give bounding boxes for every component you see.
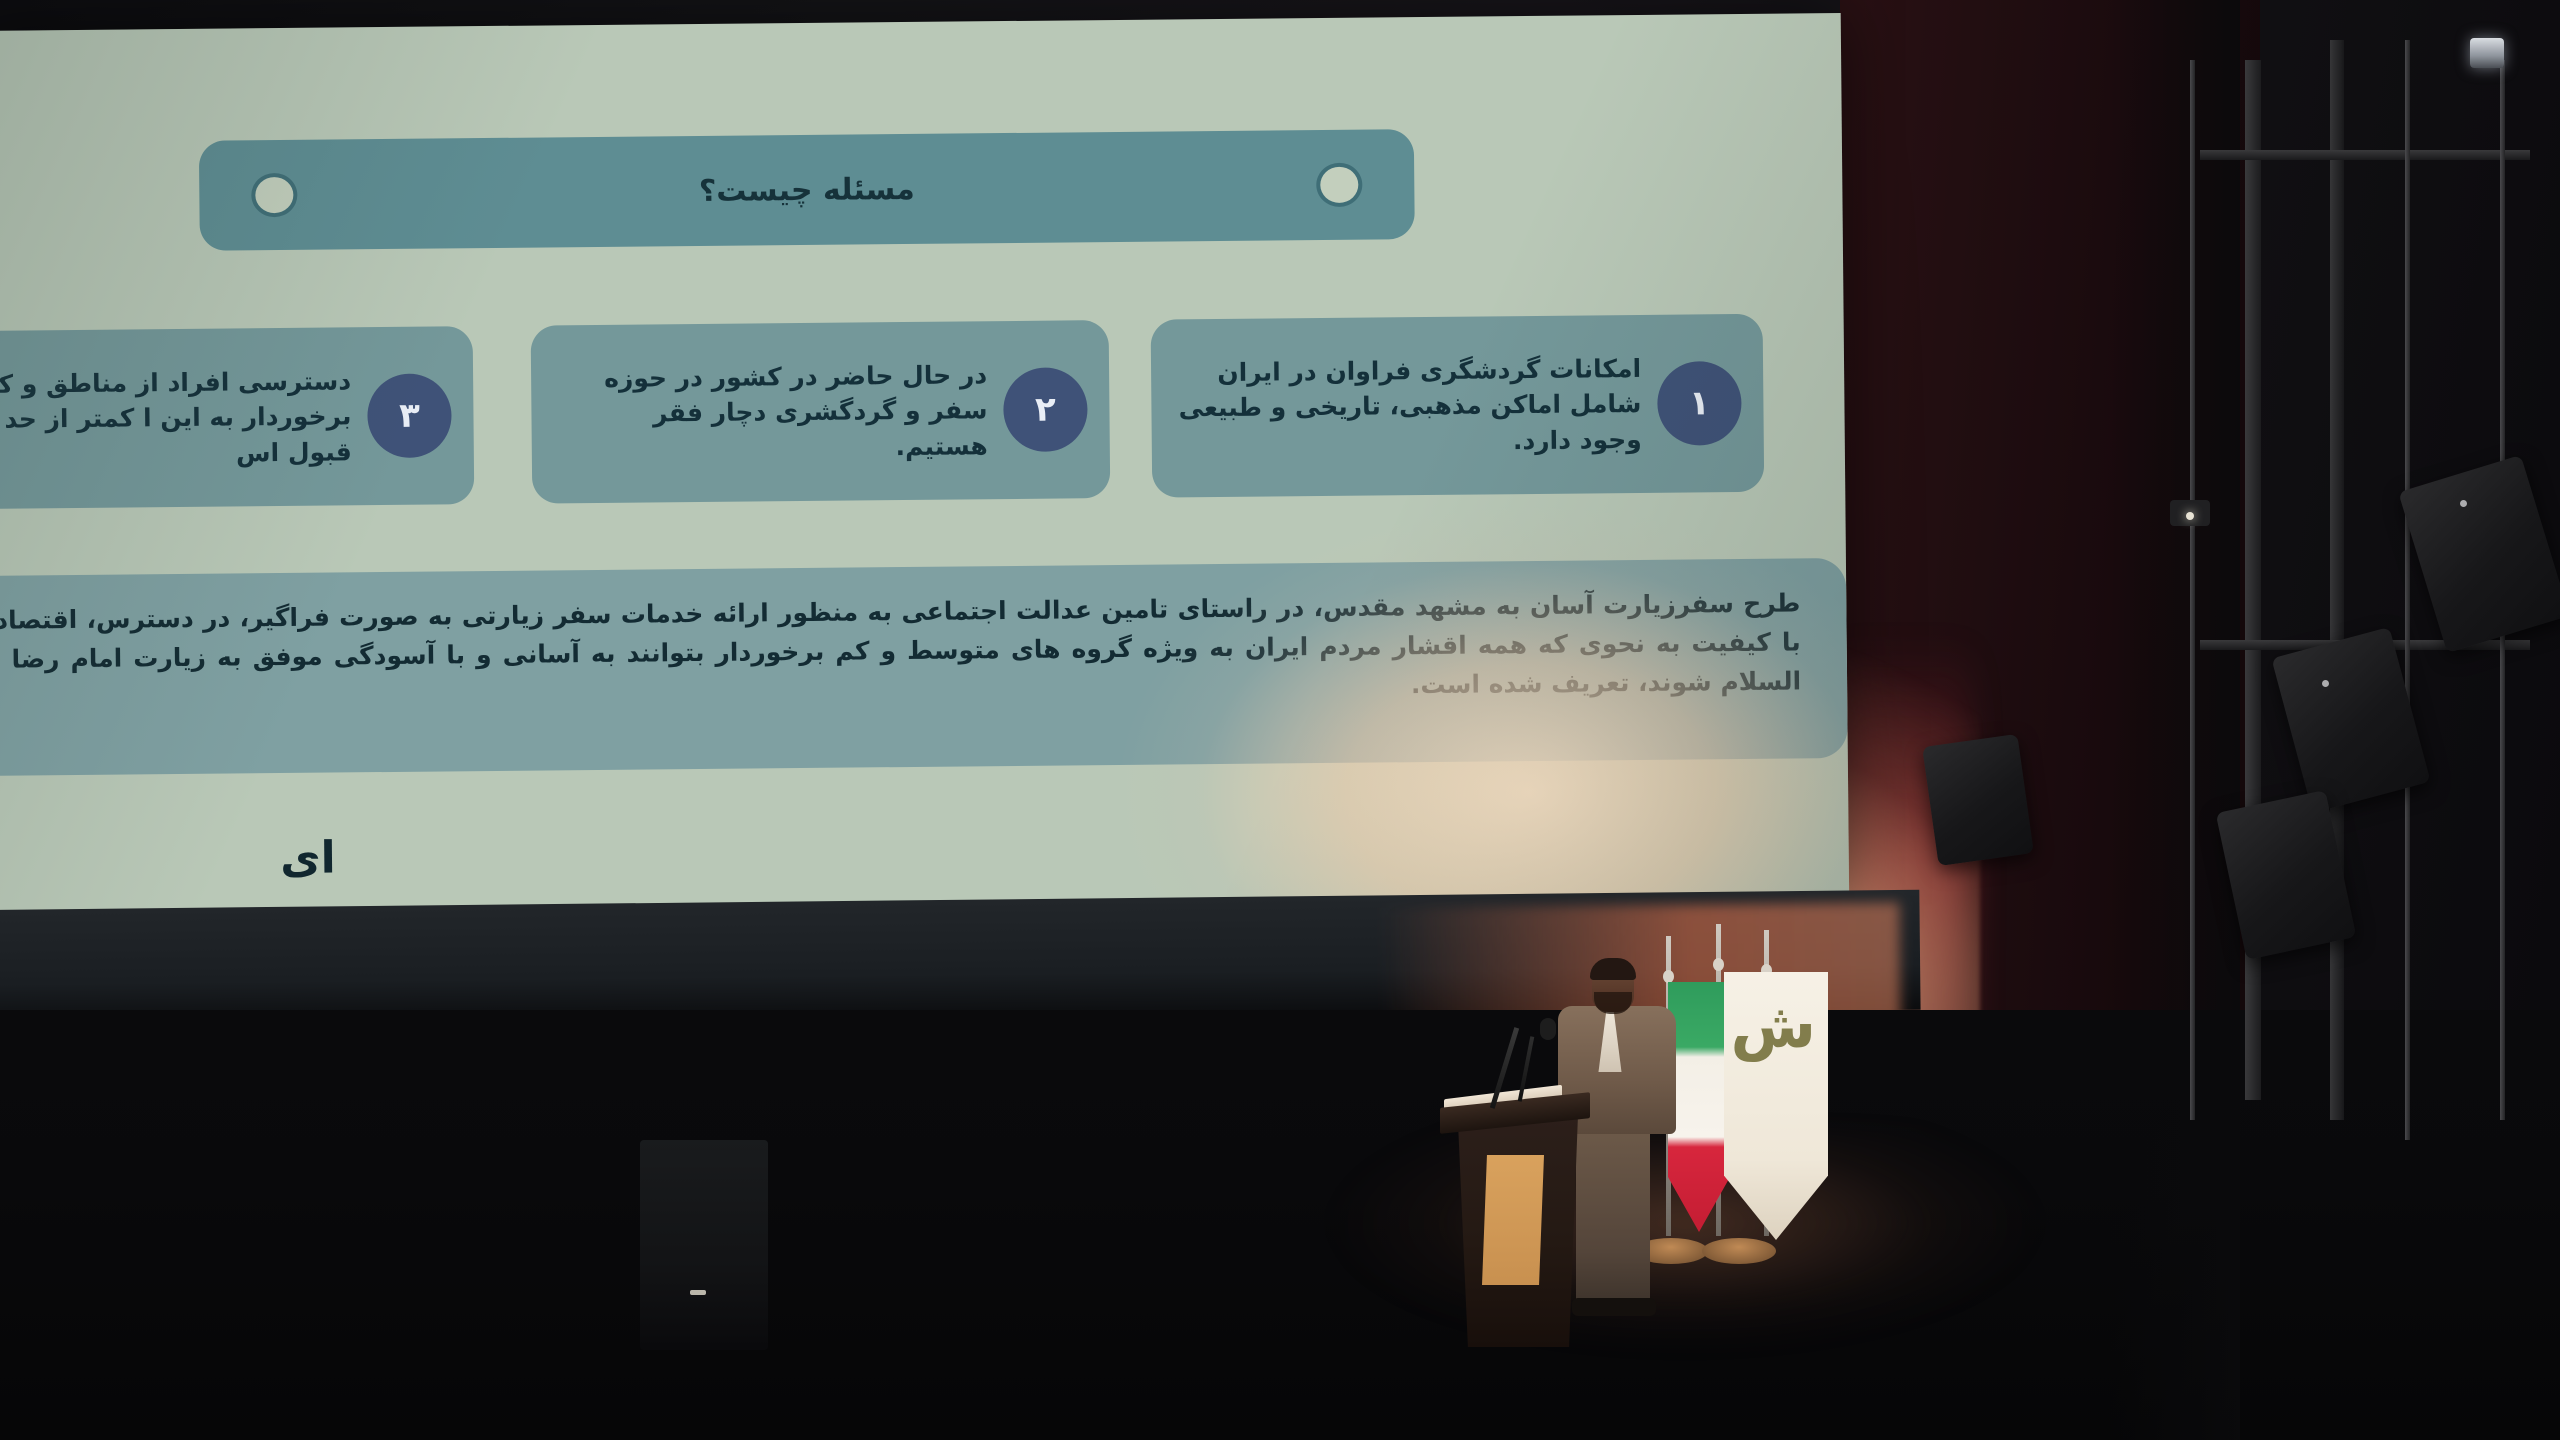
slide-paragraph-card: طرح سفرزیارت آسان به مشهد مقدس، در راستا… bbox=[0, 558, 1848, 777]
speaker-indicator-icon bbox=[2460, 500, 2467, 507]
lamp-bulb-icon bbox=[2186, 512, 2194, 520]
card-1-text: امکانات گردشگری فراوان در ایران شامل اما… bbox=[1173, 351, 1642, 462]
microphone-icon bbox=[1540, 1018, 1556, 1040]
stage-monitor-speaker bbox=[1922, 734, 2034, 866]
hanging-rod bbox=[2190, 60, 2195, 1120]
numbered-cards-row: ۱ امکانات گردشگری فراوان در ایران شامل ا… bbox=[0, 313, 1810, 531]
card-2-number-badge: ۲ bbox=[1003, 367, 1088, 452]
card-2-text: در حال حاضر در کشور در حوزه سفر و گردگشر… bbox=[553, 357, 988, 468]
slide-title: مسئله چیست؟ bbox=[699, 171, 915, 208]
card-1-number-badge: ۱ bbox=[1657, 361, 1742, 446]
podium-front-panel bbox=[1482, 1155, 1544, 1285]
speaker-shoes bbox=[1572, 1298, 1656, 1316]
amplifier-rack bbox=[640, 1140, 768, 1350]
card-3-text: دسترسی افراد از مناطق و کمتر برخوردار به… bbox=[0, 363, 352, 474]
header-right-dot-icon bbox=[1316, 163, 1362, 207]
presentation-slide: مسئله چیست؟ ۱ امکانات گردشگری فراوان در … bbox=[0, 13, 1849, 923]
numbered-card-2: ۲ در حال حاضر در کشور در حوزه سفر و گردگ… bbox=[531, 320, 1111, 504]
lighting-truss-horizontal bbox=[2200, 150, 2530, 160]
lighting-truss-vertical bbox=[2330, 40, 2344, 1120]
stage-right-shadow bbox=[2110, 0, 2240, 1440]
card-3-number-badge: ۳ bbox=[367, 373, 452, 458]
header-left-dot-icon bbox=[251, 173, 297, 217]
numbered-card-1: ۱ امکانات گردشگری فراوان در ایران شامل ا… bbox=[1151, 314, 1765, 498]
projection-screen: مسئله چیست؟ ۱ امکانات گردشگری فراوان در … bbox=[0, 13, 1849, 923]
slide-header-bar: مسئله چیست؟ bbox=[199, 129, 1415, 251]
speaker-legs bbox=[1576, 1126, 1650, 1306]
podium-and-speaker bbox=[1440, 940, 1820, 1370]
slide-cut-off-line: ای bbox=[0, 833, 336, 888]
hanging-rod bbox=[2405, 40, 2410, 1140]
numbered-card-3: ۳ دسترسی افراد از مناطق و کمتر برخوردار … bbox=[0, 326, 474, 510]
stage-spotlight-fixture bbox=[2470, 38, 2504, 68]
speaker-hair bbox=[1590, 958, 1636, 980]
conference-stage-scene: مسئله چیست؟ ۱ امکانات گردشگری فراوان در … bbox=[0, 0, 2560, 1440]
speaker-indicator-icon bbox=[2322, 680, 2329, 687]
amplifier-led-icon bbox=[690, 1290, 706, 1295]
